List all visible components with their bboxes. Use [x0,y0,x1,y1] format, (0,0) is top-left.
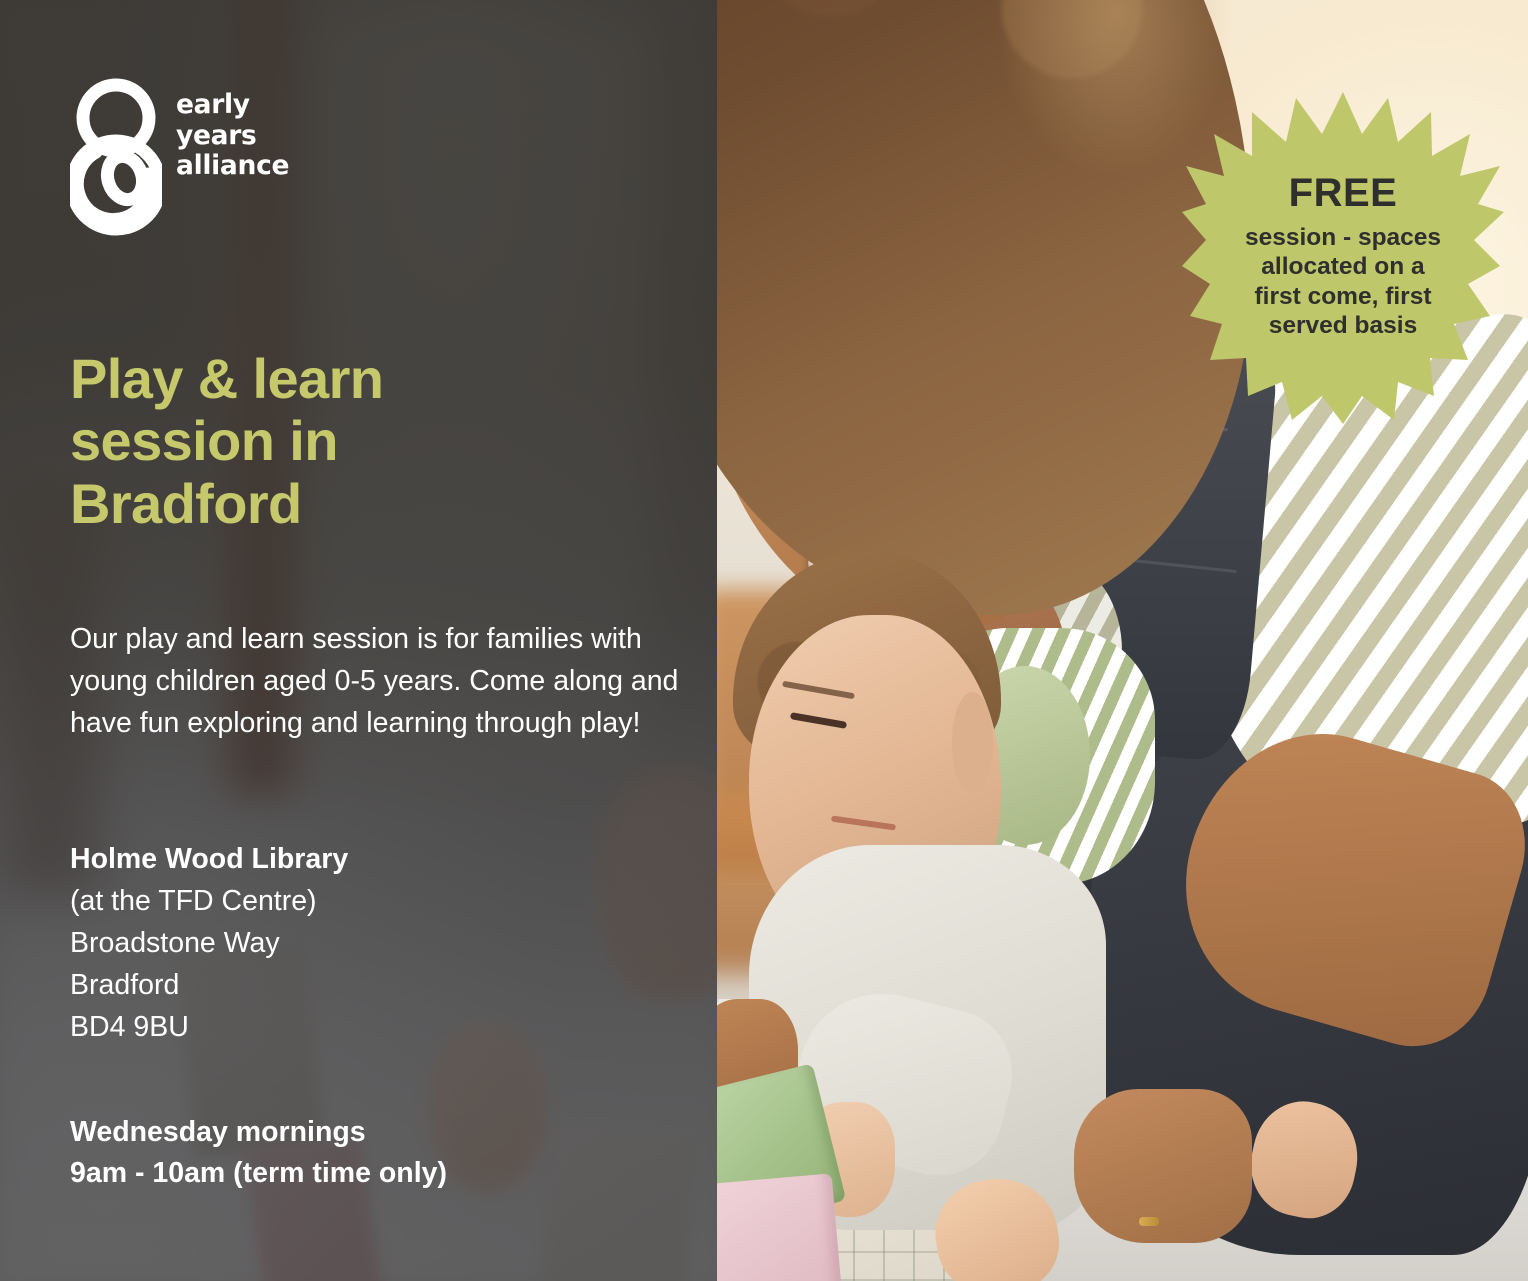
headline-line-2: session in [70,410,550,472]
schedule-day: Wednesday mornings [70,1112,630,1153]
logo-line-3: alliance [176,151,289,182]
left-info-panel: early years alliance Play & learn sessio… [0,0,717,1281]
badge-subtext: session - spaces allocated on a first co… [1245,223,1441,341]
logo-line-2: years [176,121,289,152]
logo-line-1: early [176,90,289,121]
badge-line-4: served basis [1245,311,1441,340]
venue-name: Holme Wood Library [70,838,630,880]
badge-text-block: FREE session - spaces allocated on a fir… [1182,88,1504,424]
poster: FREE session - spaces allocated on a fir… [0,0,1528,1281]
badge-line-3: first come, first [1245,282,1441,311]
venue-address: Holme Wood Library (at the TFD Centre) B… [70,838,630,1048]
schedule-time: 9am - 10am (term time only) [70,1153,630,1194]
gold-ring [1139,1217,1159,1226]
brand-logo: early years alliance [70,78,289,236]
session-schedule: Wednesday mornings 9am - 10am (term time… [70,1112,630,1194]
venue-postcode: BD4 9BU [70,1006,630,1048]
adult-hand [1074,1089,1252,1243]
venue-line-2: (at the TFD Centre) [70,880,630,922]
pink-toy-block [717,1173,846,1281]
free-session-badge: FREE session - spaces allocated on a fir… [1182,88,1504,424]
venue-line-3: Broadstone Way [70,922,630,964]
brand-logo-wordmark: early years alliance [176,78,289,182]
toddler-ear [952,692,993,794]
venue-line-4: Bradford [70,964,630,1006]
description-paragraph: Our play and learn session is for famili… [70,618,680,745]
badge-line-2: allocated on a [1245,252,1441,281]
headline-line-1: Play & learn [70,348,550,410]
badge-headline: FREE [1289,172,1398,214]
headline-line-3: Bradford [70,473,550,535]
badge-line-1: session - spaces [1245,223,1441,252]
page-title: Play & learn session in Bradford [70,348,550,535]
early-years-alliance-logo-icon [70,78,162,236]
panel-content: early years alliance Play & learn sessio… [70,0,690,1281]
